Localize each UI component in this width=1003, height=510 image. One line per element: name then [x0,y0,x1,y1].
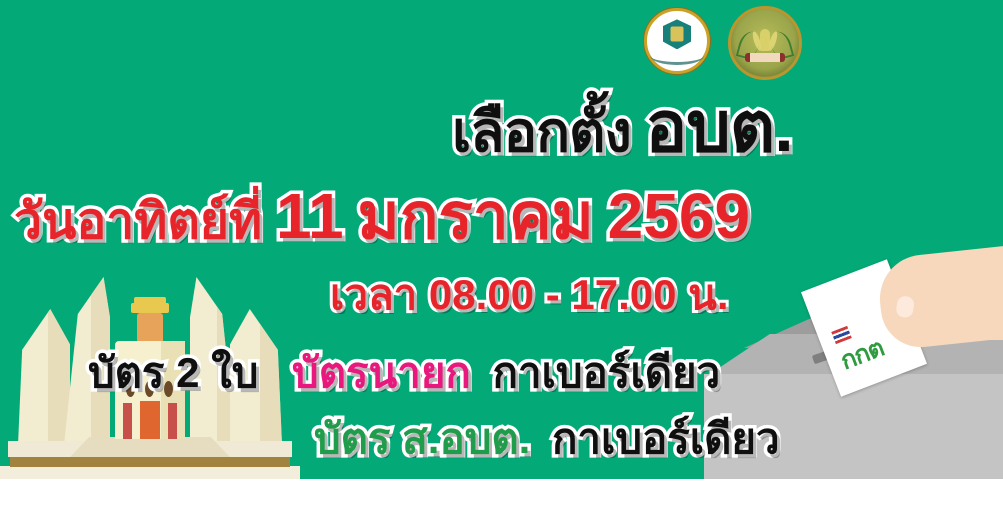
ballot-row-1: บัตร 2 ใบ บัตรนายก กาเบอร์เดียว [88,352,720,394]
thai-government-emblem-icon [644,8,710,74]
monument-steps [70,437,230,457]
mayor-ballot-instruction: กาเบอร์เดียว [493,349,721,396]
ballot-row-2: บัตร ส.อบต. กาเบอร์เดียว [314,418,780,460]
poster-date-line: วันอาทิตย์ที่ 11 มกราคม 2569 [14,184,750,248]
council-ballot-label: บัตร ส.อบต. [314,415,530,462]
poster-time-line: เวลา 08.00 - 17.00 น. [330,274,729,316]
date-weekday-prefix: วันอาทิตย์ที่ [14,193,262,249]
local-administration-seal-icon [728,6,802,80]
council-ballot-instruction: กาเบอร์เดียว [552,415,780,462]
ballot-count-label: บัตร 2 ใบ [88,349,258,396]
mayor-ballot-label: บัตรนายก [292,349,471,396]
monument-wing-1 [18,309,70,445]
thumbnail-icon [895,295,915,318]
monument-ground [0,466,300,479]
date-year: 2569 [608,180,750,252]
monument-turret [137,313,163,343]
date-day: 11 [276,180,344,252]
poster-headline: เลือกตั้ง อบต. [452,92,793,162]
headline-prefix: เลือกตั้ง [452,100,631,163]
election-poster: กกต เลือกตั้ง อบต. วันอาทิตย์ที่ 11 มกรา… [0,0,1003,510]
date-month: มกราคม [358,180,594,252]
bottom-white-strip [0,479,1003,510]
wrist-illustration [960,262,1003,340]
headline-emphasis: อบต. [645,88,792,166]
